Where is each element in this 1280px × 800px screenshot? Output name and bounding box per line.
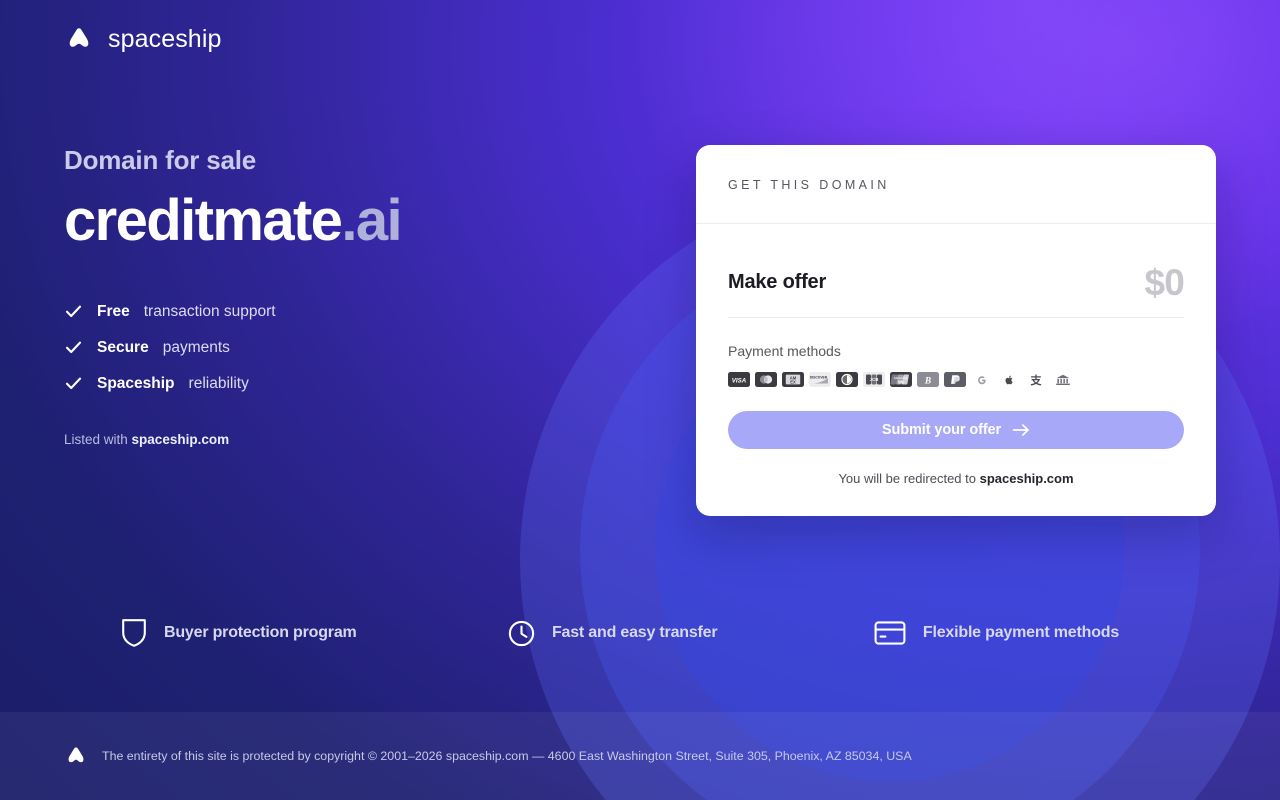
paypal-icon — [944, 372, 966, 387]
offer-amount-input[interactable]: $0 — [1144, 264, 1184, 301]
redirect-note-prefix: You will be redirected to — [838, 471, 979, 486]
svg-text:银联: 银联 — [898, 379, 905, 384]
bitcoin-icon: B — [917, 372, 939, 387]
list-item: Spaceship reliability — [64, 366, 644, 402]
footer-inner: The entirety of this site is protected b… — [0, 744, 912, 768]
listed-with: Listed with spaceship.com — [64, 432, 644, 447]
benefits-list: Free transaction support Secure payments… — [64, 294, 644, 402]
svg-text:VISA: VISA — [732, 377, 747, 384]
submit-offer-label: Submit your offer — [882, 422, 1001, 438]
offer-row[interactable]: Make offer $0 — [728, 250, 1184, 318]
list-item: Free transaction support — [64, 294, 644, 330]
clock-icon — [508, 620, 535, 647]
payment-methods-list: VISA AMEX DISCOVER — [728, 372, 1184, 387]
credit-card-icon — [874, 620, 906, 646]
redirect-note: You will be redirected to spaceship.com — [728, 471, 1184, 486]
google-pay-icon — [971, 372, 993, 387]
trust-item-fast-transfer: Fast and easy transfer — [448, 620, 832, 647]
brand-name: spaceship — [108, 25, 221, 54]
benefit-rest: transaction support — [144, 303, 276, 321]
mastercard-icon — [755, 372, 777, 387]
trust-item-buyer-protection: Buyer protection program — [64, 618, 448, 648]
spaceship-logo-icon — [64, 744, 88, 768]
diners-club-icon — [836, 372, 858, 387]
trust-item-flexible-payment: Flexible payment methods — [832, 620, 1216, 646]
page-title: creditmate.ai — [64, 190, 644, 251]
domain-sld: creditmate — [64, 188, 341, 253]
benefit-strong: Free — [97, 303, 130, 321]
visa-icon: VISA — [728, 372, 750, 387]
listed-with-brand[interactable]: spaceship.com — [132, 432, 230, 447]
offer-card-body: Make offer $0 Payment methods VISA AMEX — [696, 224, 1216, 516]
hero-eyebrow: Domain for sale — [64, 145, 644, 176]
check-icon — [64, 302, 83, 321]
apple-pay-icon — [998, 372, 1020, 387]
offer-card-eyebrow: GET THIS DOMAIN — [728, 178, 1184, 192]
benefit-strong: Spaceship — [97, 375, 175, 393]
svg-text:支: 支 — [1030, 373, 1043, 387]
benefit-rest: reliability — [189, 375, 249, 393]
listed-with-prefix: Listed with — [64, 432, 132, 447]
check-icon — [64, 374, 83, 393]
svg-text:EX: EX — [790, 379, 796, 384]
benefit-rest: payments — [163, 339, 230, 357]
jcb-icon: JCB — [863, 372, 885, 387]
trust-item-label: Flexible payment methods — [923, 624, 1119, 642]
svg-text:B: B — [924, 376, 931, 386]
footer-copyright-text: The entirety of this site is protected b… — [102, 748, 912, 764]
amex-icon: AMEX — [782, 372, 804, 387]
submit-offer-button[interactable]: Submit your offer — [728, 411, 1184, 449]
site-footer: The entirety of this site is protected b… — [0, 712, 1280, 800]
shield-icon — [121, 618, 147, 648]
unionpay-icon: UnionPay银联 — [890, 372, 912, 387]
alipay-icon: 支 — [1025, 372, 1047, 387]
svg-text:JCB: JCB — [870, 377, 879, 382]
offer-card-header: GET THIS DOMAIN — [696, 145, 1216, 224]
payment-methods-label: Payment methods — [728, 343, 1184, 359]
redirect-note-brand: spaceship.com — [980, 471, 1074, 486]
brand-header[interactable]: spaceship — [64, 24, 221, 54]
svg-text:DISCOVER: DISCOVER — [810, 376, 828, 380]
arrow-right-icon — [1012, 423, 1030, 437]
check-icon — [64, 338, 83, 357]
spaceship-logo-icon — [64, 24, 94, 54]
page-root: spaceship Domain for sale creditmate.ai … — [0, 0, 1280, 800]
offer-label: Make offer — [728, 271, 826, 294]
discover-icon: DISCOVER — [809, 372, 831, 387]
trust-strip: Buyer protection program Fast and easy t… — [64, 612, 1216, 654]
offer-card: GET THIS DOMAIN Make offer $0 Payment me… — [696, 145, 1216, 516]
hero-section: Domain for sale creditmate.ai Free trans… — [64, 145, 644, 447]
bank-transfer-icon — [1052, 372, 1074, 387]
trust-item-label: Buyer protection program — [164, 624, 357, 642]
domain-tld: .ai — [341, 188, 401, 253]
trust-item-label: Fast and easy transfer — [552, 624, 717, 642]
list-item: Secure payments — [64, 330, 644, 366]
benefit-strong: Secure — [97, 339, 149, 357]
